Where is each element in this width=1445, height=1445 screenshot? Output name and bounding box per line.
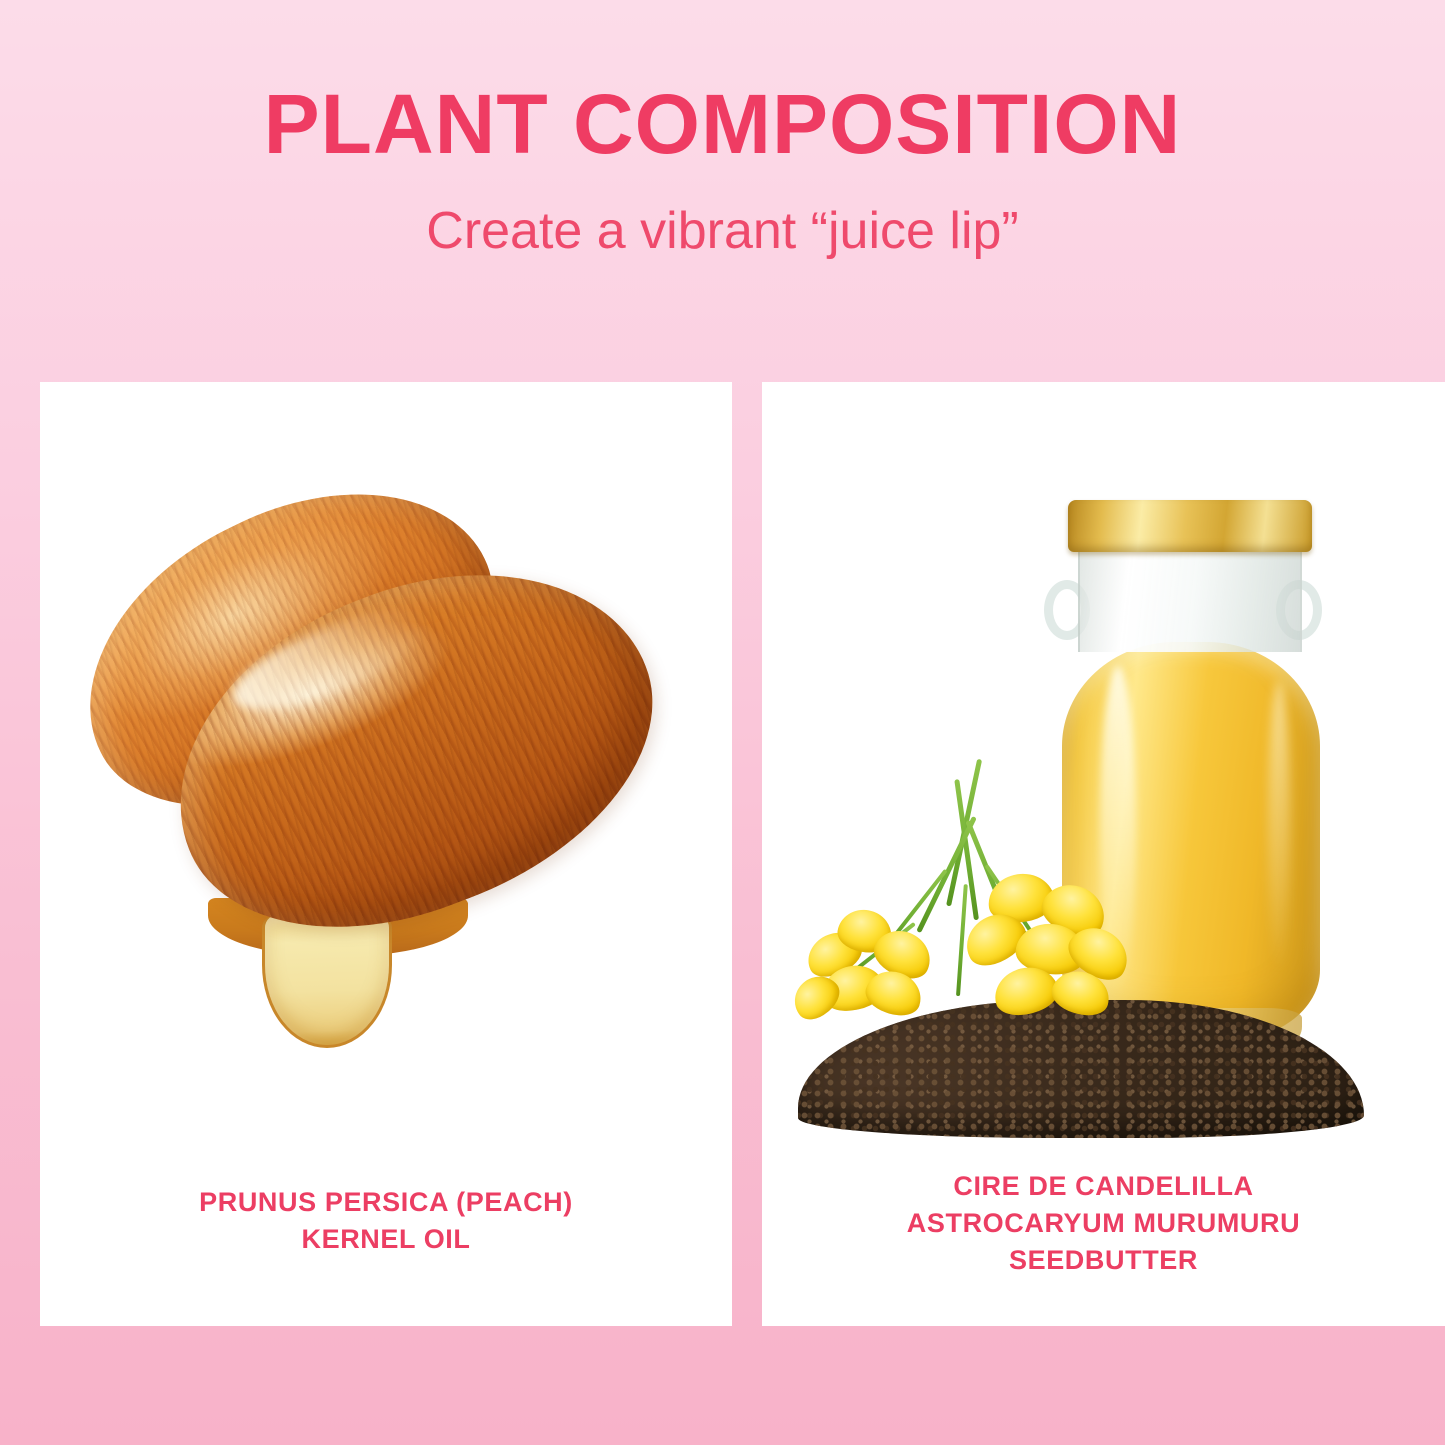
caption-line: ASTROCARYUM MURUMURU	[762, 1205, 1445, 1242]
caption-line: PRUNUS PERSICA (PEACH)	[40, 1184, 732, 1221]
page-title: PLANT COMPOSITION	[0, 82, 1445, 166]
page-subtitle: Create a vibrant “juice lip”	[0, 203, 1445, 260]
oil-jar-illustration	[762, 452, 1445, 1142]
jar-highlight-right	[1268, 682, 1290, 972]
rapeseed-flower-cluster-left	[802, 904, 952, 1024]
caption-line: CIRE DE CANDELILLA	[762, 1168, 1445, 1205]
ingredient-card-candelilla-murumuru[interactable]: CIRE DE CANDELILLA ASTROCARYUM MURUMURU …	[762, 382, 1445, 1326]
jar-neck-shape	[1078, 548, 1302, 652]
caption-line: KERNEL OIL	[40, 1221, 732, 1258]
rapeseed-flower-cluster-right	[958, 872, 1138, 1022]
oil-drip-icon	[262, 914, 392, 1048]
oil-jar-image	[762, 452, 1445, 1142]
jar-gold-lid-icon	[1068, 500, 1312, 552]
header: PLANT COMPOSITION Create a vibrant “juic…	[0, 0, 1445, 340]
ingredient-caption-left: PRUNUS PERSICA (PEACH) KERNEL OIL	[40, 1184, 732, 1258]
caption-line: SEEDBUTTER	[762, 1242, 1445, 1279]
almond-oil-image	[40, 478, 732, 1138]
ingredient-card-peach-kernel-oil[interactable]: PRUNUS PERSICA (PEACH) KERNEL OIL	[40, 382, 732, 1326]
almond-illustration	[40, 478, 732, 1138]
ingredient-caption-right: CIRE DE CANDELILLA ASTROCARYUM MURUMURU …	[762, 1168, 1445, 1279]
